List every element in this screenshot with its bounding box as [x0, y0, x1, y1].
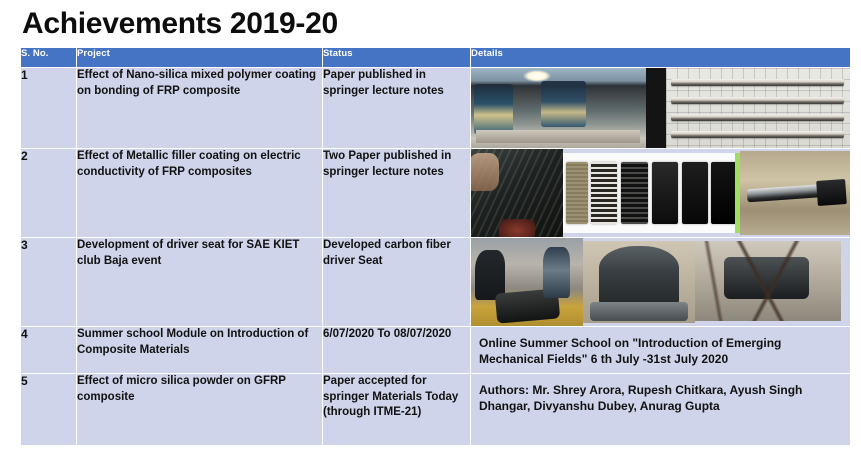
specimen-rod [671, 97, 844, 104]
specimen-tile [682, 162, 708, 224]
cell-details [471, 149, 851, 238]
cell-project: Development of driver seat for SAE KIET … [77, 238, 323, 327]
cell-details: Authors: Mr. Shrey Arora, Rupesh Chitkar… [471, 374, 851, 446]
cell-project: Effect of Metallic filler coating on ele… [77, 149, 323, 238]
lab-workshop-photo [471, 68, 646, 148]
details-text: Online Summer School on "Introduction of… [479, 335, 842, 367]
table-row: 3 Development of driver seat for SAE KIE… [21, 238, 851, 327]
slide-canvas: Achievements 2019-20 S. No. Project Stat… [0, 0, 861, 450]
column-header-details: Details [471, 48, 851, 68]
cell-details [471, 238, 851, 327]
cell-status: 6/07/2020 To 08/07/2020 [323, 327, 471, 374]
specimen-rods-photo [666, 68, 851, 148]
specimen-rod [671, 114, 844, 121]
column-header-sno: S. No. [21, 48, 77, 68]
cell-sno: 5 [21, 374, 77, 446]
details-photo-group [471, 68, 850, 148]
cell-status: Two Paper published in springer lecture … [323, 149, 471, 238]
finished-carbon-seat-photo [583, 241, 695, 323]
column-header-status: Status [323, 48, 471, 68]
cell-sno: 4 [21, 327, 77, 374]
specimen-tile [591, 162, 617, 224]
cell-project: Summer school Module on Introduction of … [77, 327, 323, 374]
table-row: 5 Effect of micro silica powder on GFRP … [21, 374, 851, 446]
specimen-tile [566, 162, 588, 224]
table-header-row: S. No. Project Status Details [21, 48, 851, 68]
cell-details: Online Summer School on "Introduction of… [471, 327, 851, 374]
page-title: Achievements 2019-20 [22, 6, 338, 42]
specimen-panel-strip-photo [563, 153, 741, 233]
table-row: 2 Effect of Metallic filler coating on e… [21, 149, 851, 238]
details-text: Authors: Mr. Shrey Arora, Rupesh Chitkar… [479, 382, 842, 414]
specimen-tile [711, 162, 737, 224]
photo-gap-divider [646, 68, 666, 148]
cell-details [471, 68, 851, 149]
cell-status: Developed carbon fiber driver Seat [323, 238, 471, 327]
seat-layup-photo [471, 238, 583, 326]
specimen-rod [671, 79, 844, 86]
specimen-tile [652, 162, 678, 224]
cell-sno: 1 [21, 68, 77, 149]
cell-project: Effect of Nano-silica mixed polymer coat… [77, 68, 323, 149]
textured-composite-plate-photo [471, 149, 563, 237]
seat-in-baja-frame-photo [695, 241, 841, 321]
cell-sno: 3 [21, 238, 77, 327]
specimen-tile [621, 162, 648, 224]
specimen-rod [671, 131, 844, 138]
achievements-table-container: S. No. Project Status Details 1 Effect o… [20, 47, 850, 443]
bench-bar [476, 130, 640, 143]
table-row: 1 Effect of Nano-silica mixed polymer co… [21, 68, 851, 149]
cell-status: Paper published in springer lecture note… [323, 68, 471, 149]
cell-project: Effect of micro silica powder on GFRP co… [77, 374, 323, 446]
coating-tool-photo [740, 151, 850, 235]
table-header: S. No. Project Status Details [21, 48, 851, 68]
table-body: 1 Effect of Nano-silica mixed polymer co… [21, 68, 851, 446]
column-header-project: Project [77, 48, 323, 68]
cell-status: Paper accepted for springer Materials To… [323, 374, 471, 446]
cell-sno: 2 [21, 149, 77, 238]
achievements-table: S. No. Project Status Details 1 Effect o… [20, 47, 851, 446]
table-row: 4 Summer school Module on Introduction o… [21, 327, 851, 374]
details-photo-group [471, 238, 850, 326]
lamp-glow [523, 70, 551, 83]
details-photo-group [471, 149, 850, 237]
seat-blank [494, 288, 559, 323]
